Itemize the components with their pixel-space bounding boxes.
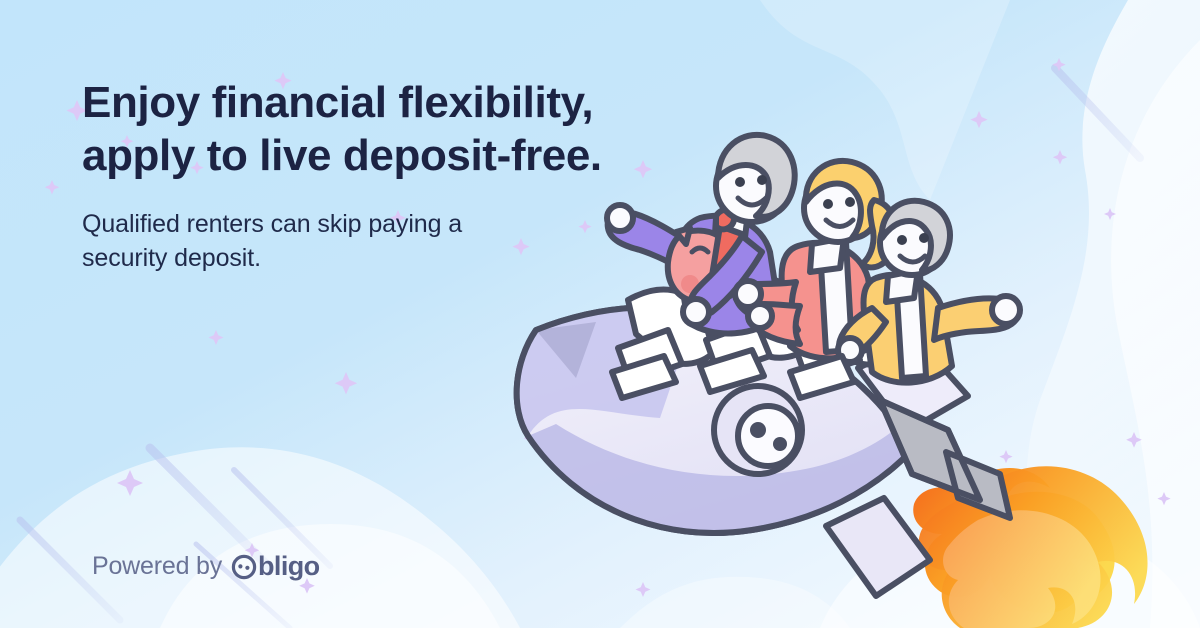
headline: Enjoy financial flexibility, apply to li… xyxy=(82,76,662,182)
obligo-logo: bligo xyxy=(231,551,319,582)
obligo-wordmark: bligo xyxy=(258,551,319,582)
promo-banner: Enjoy financial flexibility, apply to li… xyxy=(0,0,1200,628)
obligo-mark-icon xyxy=(231,554,257,580)
banner-copy: Enjoy financial flexibility, apply to li… xyxy=(82,76,662,275)
subheadline: Qualified renters can skip paying a secu… xyxy=(82,208,662,275)
powered-by-label: Powered by xyxy=(92,552,222,581)
powered-by-obligo: Powered by bligo xyxy=(92,551,320,582)
